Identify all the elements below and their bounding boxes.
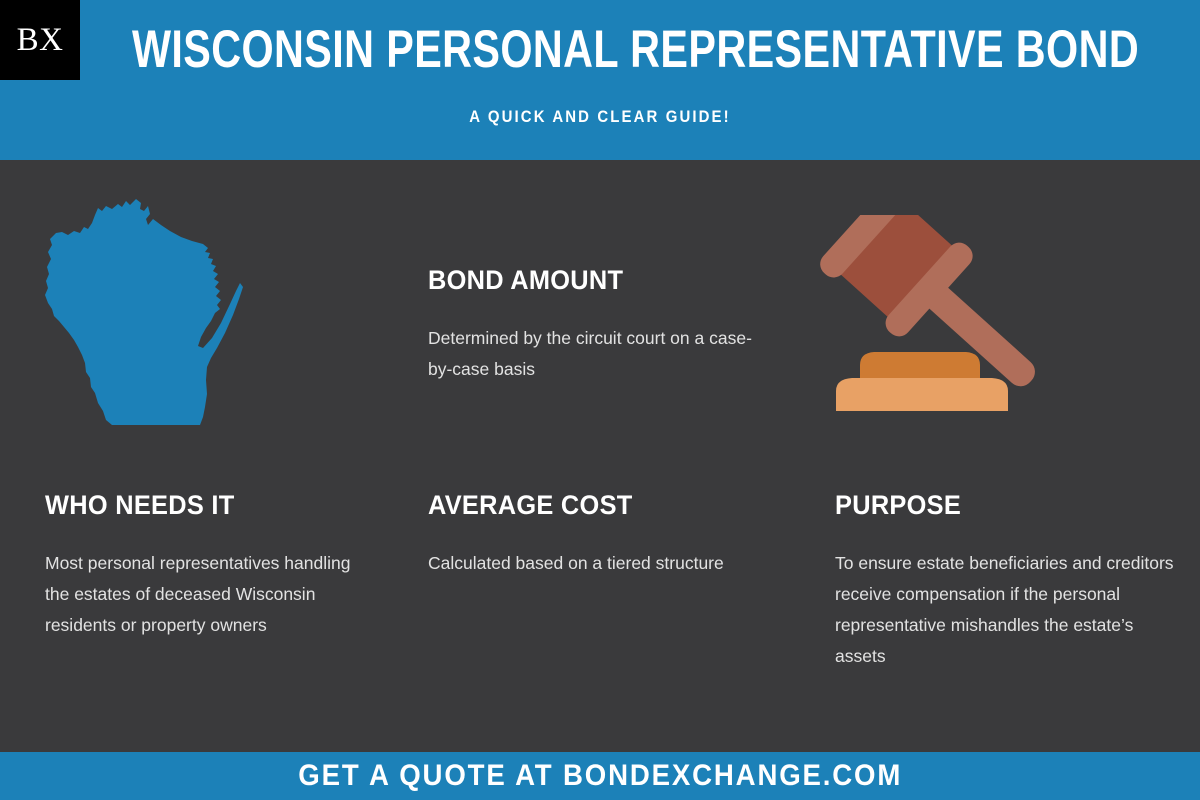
footer-cta-bar[interactable]: GET A QUOTE AT BONDEXCHANGE.COM: [0, 752, 1200, 800]
panel-heading-purpose: PURPOSE: [835, 490, 1155, 520]
logo-text: BX: [17, 24, 64, 57]
footer-cta-text: GET A QUOTE AT BONDEXCHANGE.COM: [298, 759, 902, 793]
wisconsin-map-icon: [40, 195, 270, 440]
panel-who-needs-it: WHO NEEDS IT Most personal representativ…: [45, 490, 365, 641]
main-content: BOND AMOUNT Determined by the circuit co…: [0, 160, 1200, 752]
panel-purpose: PURPOSE To ensure estate beneficiaries a…: [835, 490, 1175, 672]
panel-body-who-needs-it: Most personal representatives handling t…: [45, 548, 365, 641]
bondexchange-logo[interactable]: BX: [0, 0, 80, 80]
panel-average-cost: AVERAGE COST Calculated based on a tiere…: [428, 490, 773, 579]
page-header: BX WISCONSIN PERSONAL REPRESENTATIVE BON…: [0, 0, 1200, 160]
panel-heading-who-needs-it: WHO NEEDS IT: [45, 490, 346, 520]
page-title: WISCONSIN PERSONAL REPRESENTATIVE BOND: [132, 24, 1068, 76]
panel-body-purpose: To ensure estate beneficiaries and credi…: [835, 548, 1175, 672]
panel-heading-average-cost: AVERAGE COST: [428, 490, 752, 520]
gavel-icon: [820, 215, 1090, 420]
panel-bond-amount: BOND AMOUNT Determined by the circuit co…: [428, 265, 773, 385]
page-subtitle: A QUICK AND CLEAR GUIDE!: [72, 107, 1128, 127]
panel-heading-bond-amount: BOND AMOUNT: [428, 265, 752, 295]
panel-body-bond-amount: Determined by the circuit court on a cas…: [428, 323, 773, 385]
panel-body-average-cost: Calculated based on a tiered structure: [428, 548, 773, 579]
